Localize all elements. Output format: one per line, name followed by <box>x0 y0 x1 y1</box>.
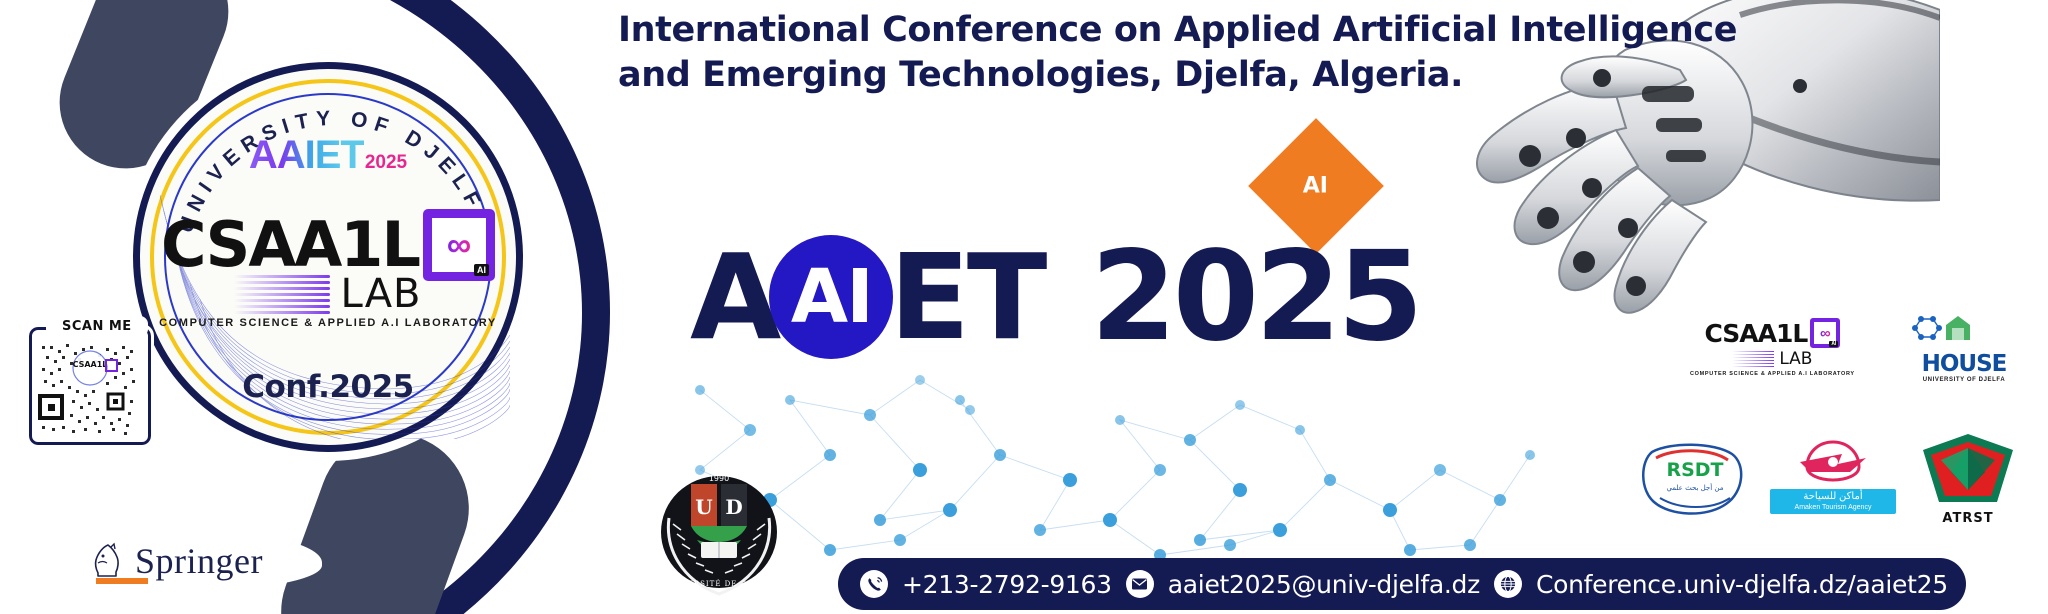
svg-text:CSAA1L: CSAA1L <box>73 360 108 369</box>
title-year: 2025 <box>1090 235 1419 359</box>
sponsor-logo-csaail: CSAA1L ∞ AI LAB COMPUTER SCIENCE & APPLI… <box>1690 318 1855 377</box>
contact-website[interactable]: Conference.univ-djelfa.dz/aaiet25 <box>1536 570 1948 599</box>
sponsor-csaail-lab-row: LAB <box>1732 349 1812 369</box>
sponsor-rsdt-name: RSDT <box>1666 459 1723 481</box>
sponsor-house-subtitle: UNIVERSITY OF DJELFA <box>1908 377 2020 383</box>
qr-code-image[interactable]: CSAA1L <box>36 342 144 438</box>
sponsor-amaken-name-ar: أماكن للسياحة <box>1774 491 1892 504</box>
scan-me-label: SCAN ME <box>46 316 148 337</box>
infinity-glyph: ∞ <box>447 228 471 262</box>
sponsor-house-name: HOUSE <box>1908 351 2020 377</box>
badge-lab-name: CSAA1L <box>161 214 419 276</box>
ai-diamond-label: AI <box>1303 174 1328 199</box>
sponsor-ai-tag: AI <box>1829 341 1838 347</box>
sponsor-amaken-band: أماكن للسياحة Amaken Tourism Agency <box>1770 489 1896 514</box>
springer-wordmark: Springer <box>135 543 263 579</box>
sponsor-infinity-ai-icon: ∞ AI <box>1810 318 1840 348</box>
atrst-star-icon <box>1921 432 2015 506</box>
phone-icon <box>860 570 888 598</box>
seal-year: 1990 <box>709 474 729 483</box>
university-seal-logo: U D 1990 UNIVERSITÉ DE DJELFA <box>655 470 783 606</box>
contact-phone[interactable]: +213-2792-9163 <box>902 570 1112 599</box>
springer-accent-bar <box>96 578 148 584</box>
seal-initial-d: D <box>725 495 742 519</box>
sponsor-logo-house: HOUSE UNIVERSITY OF DJELFA <box>1908 312 2020 383</box>
badge-conference-label: Conf.2025 <box>140 369 516 405</box>
sponsor-csaail-row: CSAA1L ∞ AI <box>1704 318 1840 348</box>
conference-banner: UNIVERSITY OF DJELFA AAIET2025 CSAA1L ∞ … <box>0 0 2048 614</box>
sponsor-atrst-name: ATRST <box>1912 511 2024 526</box>
sponsor-infinity-glyph: ∞ <box>1820 326 1831 341</box>
springer-logo: Springer <box>30 530 322 592</box>
badge-acronym: AAIET <box>249 133 364 178</box>
speed-lines-icon <box>234 275 330 314</box>
ai-circle-badge: AI <box>769 235 893 359</box>
headline-line-1: International Conference on Applied Arti… <box>618 8 1737 53</box>
amaken-plane-pin-icon <box>1780 438 1886 482</box>
globe-icon <box>1494 570 1522 598</box>
sponsor-csaail-lab-word: LAB <box>1779 349 1812 369</box>
badge-lab-subtitle: COMPUTER SCIENCE & APPLIED A.I LABORATOR… <box>140 317 516 329</box>
seal-initial-u: U <box>695 495 712 519</box>
sponsor-csaail-name: CSAA1L <box>1704 319 1807 348</box>
title-letters-et: ET <box>889 238 1044 356</box>
knight-horse-icon <box>89 542 125 580</box>
badge-lab-word: LAB <box>340 274 421 314</box>
sponsor-logo-amaken: أماكن للسياحة Amaken Tourism Agency <box>1770 438 1896 524</box>
envelope-icon <box>1126 570 1154 598</box>
seal-university-name: UNIVERSITÉ DE DJELFA <box>664 579 774 588</box>
svg-text:من أجل بحث علمي: من أجل بحث علمي <box>1666 483 1723 492</box>
qr-code-icon: CSAA1L <box>36 342 144 438</box>
page-title: International Conference on Applied Arti… <box>618 8 1737 98</box>
conference-badge: UNIVERSITY OF DJELFA AAIET2025 CSAA1L ∞ … <box>133 62 523 452</box>
badge-acronym-year: 2025 <box>365 152 407 174</box>
badge-lab-row: CSAA1L ∞ AI <box>140 209 516 281</box>
contact-bar: +213-2792-9163 aaiet2025@univ-djelfa.dz … <box>838 558 1966 610</box>
house-icon <box>1908 312 2020 346</box>
sponsor-csaail-subtitle: COMPUTER SCIENCE & APPLIED A.I LABORATOR… <box>1690 371 1855 377</box>
ai-circle-label: AI <box>791 260 872 334</box>
title-letter-a: A <box>690 238 777 356</box>
sponsor-amaken-name-en: Amaken Tourism Agency <box>1774 504 1892 513</box>
badge-lab-word-row: LAB <box>140 274 516 314</box>
sponsor-logo-rsdt: RSDT من أجل بحث علمي <box>1640 440 1750 520</box>
badge-acronym-block: AAIET2025 <box>140 133 516 178</box>
sponsor-logo-atrst: ATRST <box>1912 432 2024 528</box>
headline-line-2: and Emerging Technologies, Djelfa, Alger… <box>618 53 1737 98</box>
infinity-ai-icon: ∞ AI <box>423 209 495 281</box>
sponsor-speed-lines-icon <box>1732 351 1774 368</box>
contact-email[interactable]: aaiet2025@univ-djelfa.dz <box>1168 570 1480 599</box>
qr-code-card[interactable]: CSAA1L <box>26 324 154 448</box>
event-acronym-title: A AI ET 2025 <box>690 235 1420 359</box>
